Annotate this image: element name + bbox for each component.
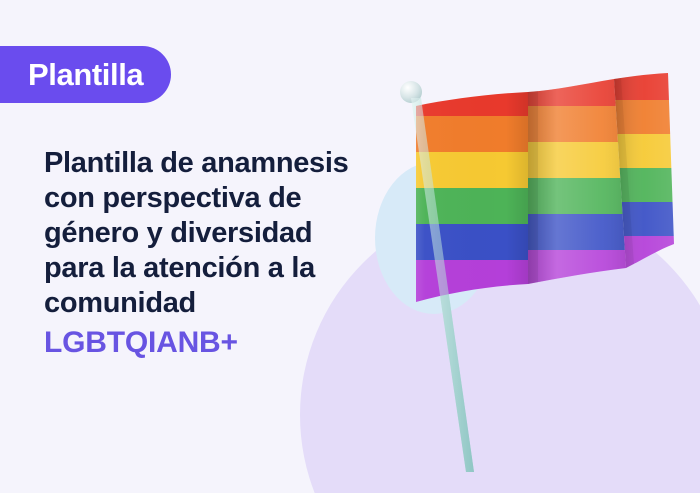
headline-line-5: comunidad bbox=[44, 286, 384, 321]
headline-line-4: para la atención a la bbox=[44, 251, 384, 286]
template-badge: Plantilla bbox=[0, 46, 171, 103]
headline-line-2: con perspectiva de bbox=[44, 181, 384, 216]
badge-label: Plantilla bbox=[28, 59, 143, 90]
rainbow-pride-flag-illustration bbox=[378, 72, 700, 492]
headline-line-3: género y diversidad bbox=[44, 216, 384, 251]
headline-acronym: LGBTQIANB+ bbox=[44, 325, 384, 360]
headline-line-1: Plantilla de anamnesis bbox=[44, 146, 384, 181]
poster-canvas: Plantilla Plantilla de anamnesis con per… bbox=[0, 0, 700, 493]
headline-block: Plantilla de anamnesis con perspectiva d… bbox=[44, 146, 384, 360]
